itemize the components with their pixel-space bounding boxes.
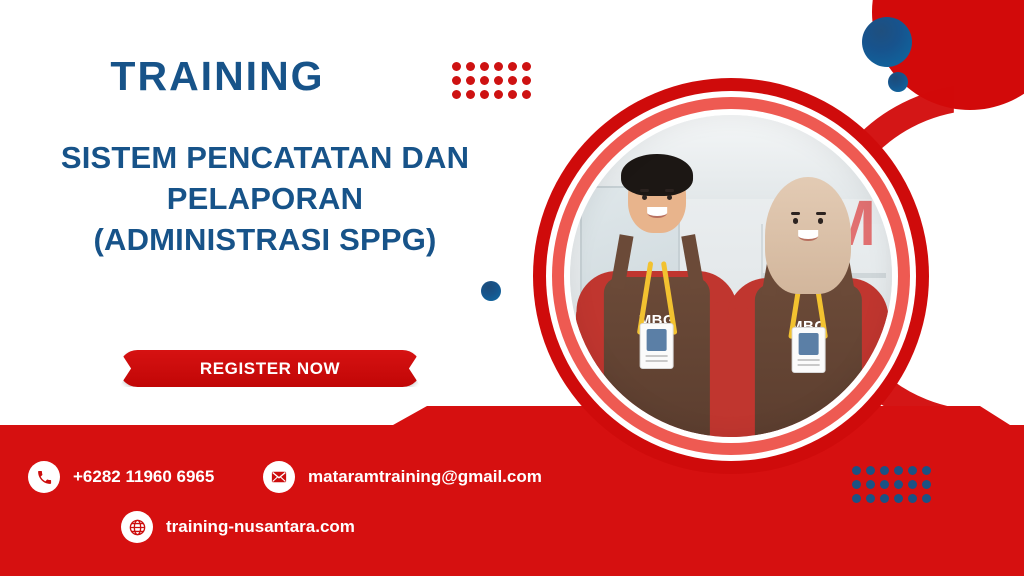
register-now-button[interactable]: REGISTER NOW xyxy=(119,350,421,387)
dot xyxy=(852,466,861,475)
staff-person-female: MBG xyxy=(728,154,889,437)
female-eye-right xyxy=(818,218,823,223)
dot xyxy=(880,480,889,489)
email-icon xyxy=(263,461,295,493)
headline-line-3: (ADMINISTRASI SPPG) xyxy=(20,219,510,260)
male-hair xyxy=(621,154,693,196)
phone-icon xyxy=(28,461,60,493)
female-smile xyxy=(798,230,818,241)
headline-line-2: PELAPORAN xyxy=(20,178,510,219)
blue-circle-accent-decor xyxy=(481,281,501,301)
store-scene: M MBG xyxy=(570,115,892,437)
eyebrow-title: TRAINING xyxy=(0,56,530,97)
dot xyxy=(908,494,917,503)
dot xyxy=(880,466,889,475)
email-text: mataramtraining@gmail.com xyxy=(308,467,542,487)
male-id-badge xyxy=(640,323,674,369)
badge-line xyxy=(646,360,668,362)
staff-photo: M MBG xyxy=(570,115,892,437)
contact-email[interactable]: mataramtraining@gmail.com xyxy=(263,461,542,493)
dot xyxy=(852,494,861,503)
badge-line xyxy=(797,359,819,361)
headline-line-1: SISTEM PENCATATAN DAN xyxy=(20,137,510,178)
female-hand xyxy=(865,365,886,386)
male-apron: MBG xyxy=(604,277,710,437)
dot xyxy=(922,466,931,475)
globe-icon xyxy=(121,511,153,543)
male-apron-strap-right xyxy=(681,235,704,291)
page-title: SISTEM PENCATATAN DAN PELAPORAN (ADMINIS… xyxy=(20,137,510,261)
dot xyxy=(922,494,931,503)
dot xyxy=(922,480,931,489)
dot xyxy=(894,480,903,489)
badge-photo xyxy=(647,329,667,351)
staff-person-male: MBG xyxy=(576,141,737,437)
male-arm-left xyxy=(576,301,603,419)
female-head xyxy=(779,188,837,256)
male-eyebrow-right xyxy=(665,189,674,192)
website-text: training-nusantara.com xyxy=(166,517,355,537)
badge-line xyxy=(797,364,819,366)
female-eye-left xyxy=(793,218,798,223)
phone-text: +6282 11960 6965 xyxy=(73,467,214,487)
dot xyxy=(880,494,889,503)
dot xyxy=(894,466,903,475)
blue-circle-large-decor xyxy=(862,17,912,67)
dot xyxy=(852,480,861,489)
dot xyxy=(866,494,875,503)
male-eyebrow-left xyxy=(640,189,649,192)
male-eye-left xyxy=(642,195,647,200)
badge-photo xyxy=(798,333,818,355)
male-head xyxy=(628,164,686,232)
promo-poster: TRAINING SISTEM PENCATATAN DAN PELAPORAN… xyxy=(0,0,1024,576)
female-eyebrow-left xyxy=(791,212,800,215)
male-eye-right xyxy=(667,195,672,200)
female-arm-left xyxy=(728,307,755,420)
contact-website[interactable]: training-nusantara.com xyxy=(121,511,355,543)
dot xyxy=(908,480,917,489)
female-arm-right xyxy=(861,307,888,420)
headline-block: TRAINING SISTEM PENCATATAN DAN PELAPORAN… xyxy=(0,56,530,261)
female-id-badge xyxy=(791,327,825,373)
cta-container: REGISTER NOW xyxy=(119,350,421,387)
dot xyxy=(894,494,903,503)
male-lanyard xyxy=(636,261,679,335)
male-smile xyxy=(647,207,667,218)
male-apron-strap-left xyxy=(610,235,633,291)
badge-line xyxy=(646,355,668,357)
dot xyxy=(908,466,917,475)
dot xyxy=(866,466,875,475)
staff-photo-frame: M MBG xyxy=(533,78,929,474)
dot xyxy=(866,480,875,489)
female-eyebrow-right xyxy=(816,212,825,215)
contact-phone[interactable]: +6282 11960 6965 xyxy=(28,461,214,493)
footer-dot-grid xyxy=(852,466,931,503)
blue-circle-small-decor xyxy=(888,72,908,92)
female-apron: MBG xyxy=(755,284,861,437)
